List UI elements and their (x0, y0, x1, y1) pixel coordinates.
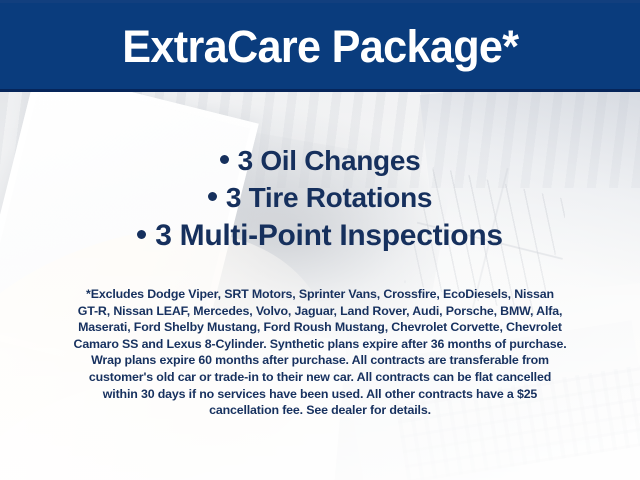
list-item: 3 Tire Rotations (0, 179, 640, 216)
disclaimer-line: cancellation fee. See dealer for details… (30, 402, 610, 419)
extracare-package-ad: ExtraCare Package* 3 Oil Changes 3 Tire … (0, 0, 640, 480)
disclaimer-line: Wrap plans expire 60 months after purcha… (30, 352, 610, 369)
bullet-dot-icon (137, 230, 146, 239)
disclaimer-line: Maserati, Ford Shelby Mustang, Ford Rous… (30, 319, 610, 336)
disclaimer-text: *Excludes Dodge Viper, SRT Motors, Sprin… (30, 286, 610, 419)
page-title: ExtraCare Package* (122, 24, 518, 69)
header-banner: ExtraCare Package* (0, 0, 640, 92)
disclaimer-line: *Excludes Dodge Viper, SRT Motors, Sprin… (30, 286, 610, 303)
disclaimer-line: within 30 days if no services have been … (30, 386, 610, 403)
offer-list: 3 Oil Changes 3 Tire Rotations 3 Multi-P… (0, 142, 640, 256)
disclaimer-line: GT-R, Nissan LEAF, Mercedes, Volvo, Jagu… (30, 303, 610, 320)
offer-label: 3 Oil Changes (238, 145, 421, 176)
disclaimer-line: customer's old car or trade-in to their … (30, 369, 610, 386)
offer-label: 3 Tire Rotations (226, 182, 432, 213)
disclaimer-line: Camaro SS and Lexus 8-Cylinder. Syntheti… (30, 336, 610, 353)
bullet-dot-icon (208, 192, 217, 201)
list-item: 3 Multi-Point Inspections (0, 216, 640, 256)
list-item: 3 Oil Changes (0, 142, 640, 179)
bullet-dot-icon (220, 155, 229, 164)
offer-label: 3 Multi-Point Inspections (155, 219, 503, 252)
